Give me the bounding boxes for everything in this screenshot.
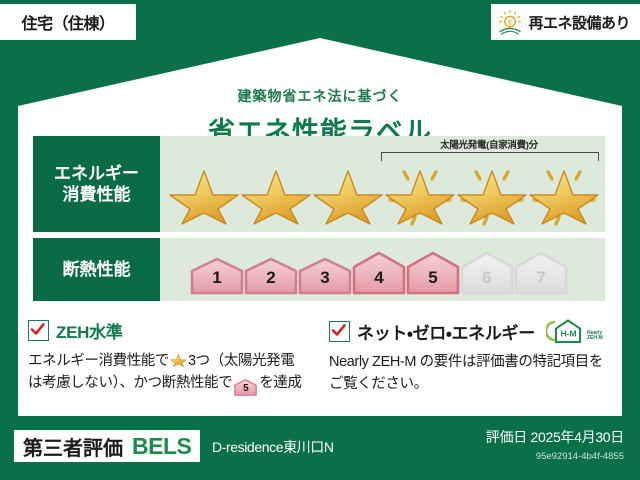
zeh-m-caption-line2: ZEH-M bbox=[587, 335, 603, 341]
bels-jp-label: 第三者評価 bbox=[23, 432, 123, 461]
inline-star-icon bbox=[170, 352, 187, 369]
house-type-badge: 住宅（住棟） bbox=[0, 4, 136, 40]
sun-solar-icon: E bbox=[497, 9, 523, 35]
solar-note: 太陽光発電(自家消費)分 bbox=[377, 137, 601, 151]
evaluation-date: 評価日 2025年4月30日 bbox=[486, 427, 624, 447]
grade-house-4: 4 bbox=[352, 251, 406, 295]
zeh-title: ZEH水準 bbox=[56, 318, 123, 343]
grade-value: 1 bbox=[212, 268, 221, 295]
star-plain bbox=[240, 162, 312, 228]
criterion-zeh: ZEH水準 エネルギー消費性能で3つ（太陽光発電は考慮しない）、かつ断熱性能で5… bbox=[28, 318, 313, 396]
energy-label-line2: 消費性能 bbox=[63, 184, 131, 205]
grade-value: 5 bbox=[428, 268, 437, 295]
house-type-label: 住宅（住棟） bbox=[21, 10, 114, 34]
bels-en-label: BELS bbox=[132, 433, 191, 460]
svg-text:H-M: H-M bbox=[560, 329, 576, 339]
nze-title: ネット・ゼロ・エネルギー bbox=[357, 319, 535, 344]
grade-house-6: 6 bbox=[460, 251, 514, 295]
grade-house-7: 7 bbox=[514, 251, 568, 295]
zeh-text-1: エネルギー消費性能で bbox=[28, 353, 169, 369]
insulation-performance-body: 1 2 3 4 5 bbox=[160, 238, 605, 301]
grade-value: 4 bbox=[374, 268, 383, 295]
energy-performance-body: 太陽光発電(自家消費)分 bbox=[160, 136, 605, 232]
svg-text:E: E bbox=[509, 19, 514, 26]
zeh-checkbox[interactable] bbox=[28, 320, 49, 341]
title-subtitle: 建築物省エネ法に基づく bbox=[0, 86, 640, 106]
footer-bar: 第三者評価 BELS D-residence東川口N 評価日 2025年4月30… bbox=[0, 418, 640, 480]
zeh-description: エネルギー消費性能で3つ（太陽光発電は考慮しない）、かつ断熱性能で5を達成 bbox=[28, 350, 313, 396]
insulation-label: 断熱性能 bbox=[63, 259, 131, 280]
criteria-section: ZEH水準 エネルギー消費性能で3つ（太陽光発電は考慮しない）、かつ断熱性能で5… bbox=[28, 318, 614, 396]
grade-value: 2 bbox=[266, 268, 275, 295]
evaluation-info: 評価日 2025年4月30日 95e92914-4b4f-4855 bbox=[486, 427, 624, 462]
zeh-m-caption: Nearly ZEH-M bbox=[587, 331, 603, 345]
criterion-zeh-header: ZEH水準 bbox=[28, 318, 313, 343]
inline-grade-house-icon: 5 bbox=[234, 379, 257, 396]
star-rating bbox=[168, 162, 601, 228]
energy-performance-label-block: エネルギー 消費性能 bbox=[33, 136, 160, 232]
inline-house-value: 5 bbox=[234, 379, 257, 399]
energy-label-line1: エネルギー bbox=[54, 163, 139, 184]
star-solar bbox=[528, 162, 600, 228]
evaluation-id: 95e92914-4b4f-4855 bbox=[486, 451, 624, 462]
zeh-text-2: は考慮しない）、かつ断熱性能で bbox=[28, 375, 232, 391]
insulation-performance-row: 断熱性能 1 2 3 bbox=[33, 238, 605, 301]
star-solar bbox=[456, 162, 528, 228]
renewable-equipment-badge: E 再エネ設備あり bbox=[491, 4, 640, 40]
nze-checkbox[interactable] bbox=[329, 321, 350, 342]
insulation-performance-label-block: 断熱性能 bbox=[33, 238, 160, 301]
renewable-label: 再エネ設備あり bbox=[528, 12, 630, 33]
grade-value: 3 bbox=[320, 268, 329, 295]
criterion-net-zero-energy: ネット・ゼロ・エネルギー H-M Nearly ZEH-M Nearly ZEH… bbox=[329, 318, 614, 396]
star-solar bbox=[384, 162, 456, 228]
grade-value: 7 bbox=[536, 268, 545, 295]
grade-value: 6 bbox=[482, 268, 491, 295]
project-name: D-residence東川口N bbox=[212, 437, 334, 457]
grade-house-1: 1 bbox=[190, 257, 244, 295]
insulation-grade-scale: 1 2 3 4 5 bbox=[190, 251, 568, 295]
grade-house-2: 2 bbox=[244, 257, 298, 295]
energy-performance-label: 住宅（住棟） E 再エネ設備あり bbox=[0, 0, 640, 480]
bels-badge: 第三者評価 BELS bbox=[14, 430, 200, 462]
zeh-m-house-icon: H-M Nearly ZEH-M bbox=[546, 318, 603, 344]
star-plain bbox=[312, 162, 384, 228]
grade-house-3: 3 bbox=[298, 257, 352, 295]
solar-bracket bbox=[381, 152, 599, 161]
performance-rows: エネルギー 消費性能 太陽光発電(自家消費)分 bbox=[33, 136, 605, 307]
zeh-star-count: 3つ（太陽光発電 bbox=[188, 353, 294, 369]
energy-performance-row: エネルギー 消費性能 太陽光発電(自家消費)分 bbox=[33, 136, 605, 232]
grade-house-5: 5 bbox=[406, 251, 460, 295]
criterion-nze-header: ネット・ゼロ・エネルギー H-M Nearly ZEH-M bbox=[329, 318, 614, 344]
nze-description: Nearly ZEH-M の要件は評価書の特記項目をご覧ください。 bbox=[329, 351, 614, 395]
zeh-text-3: を達成 bbox=[259, 375, 301, 391]
star-plain bbox=[168, 162, 240, 228]
